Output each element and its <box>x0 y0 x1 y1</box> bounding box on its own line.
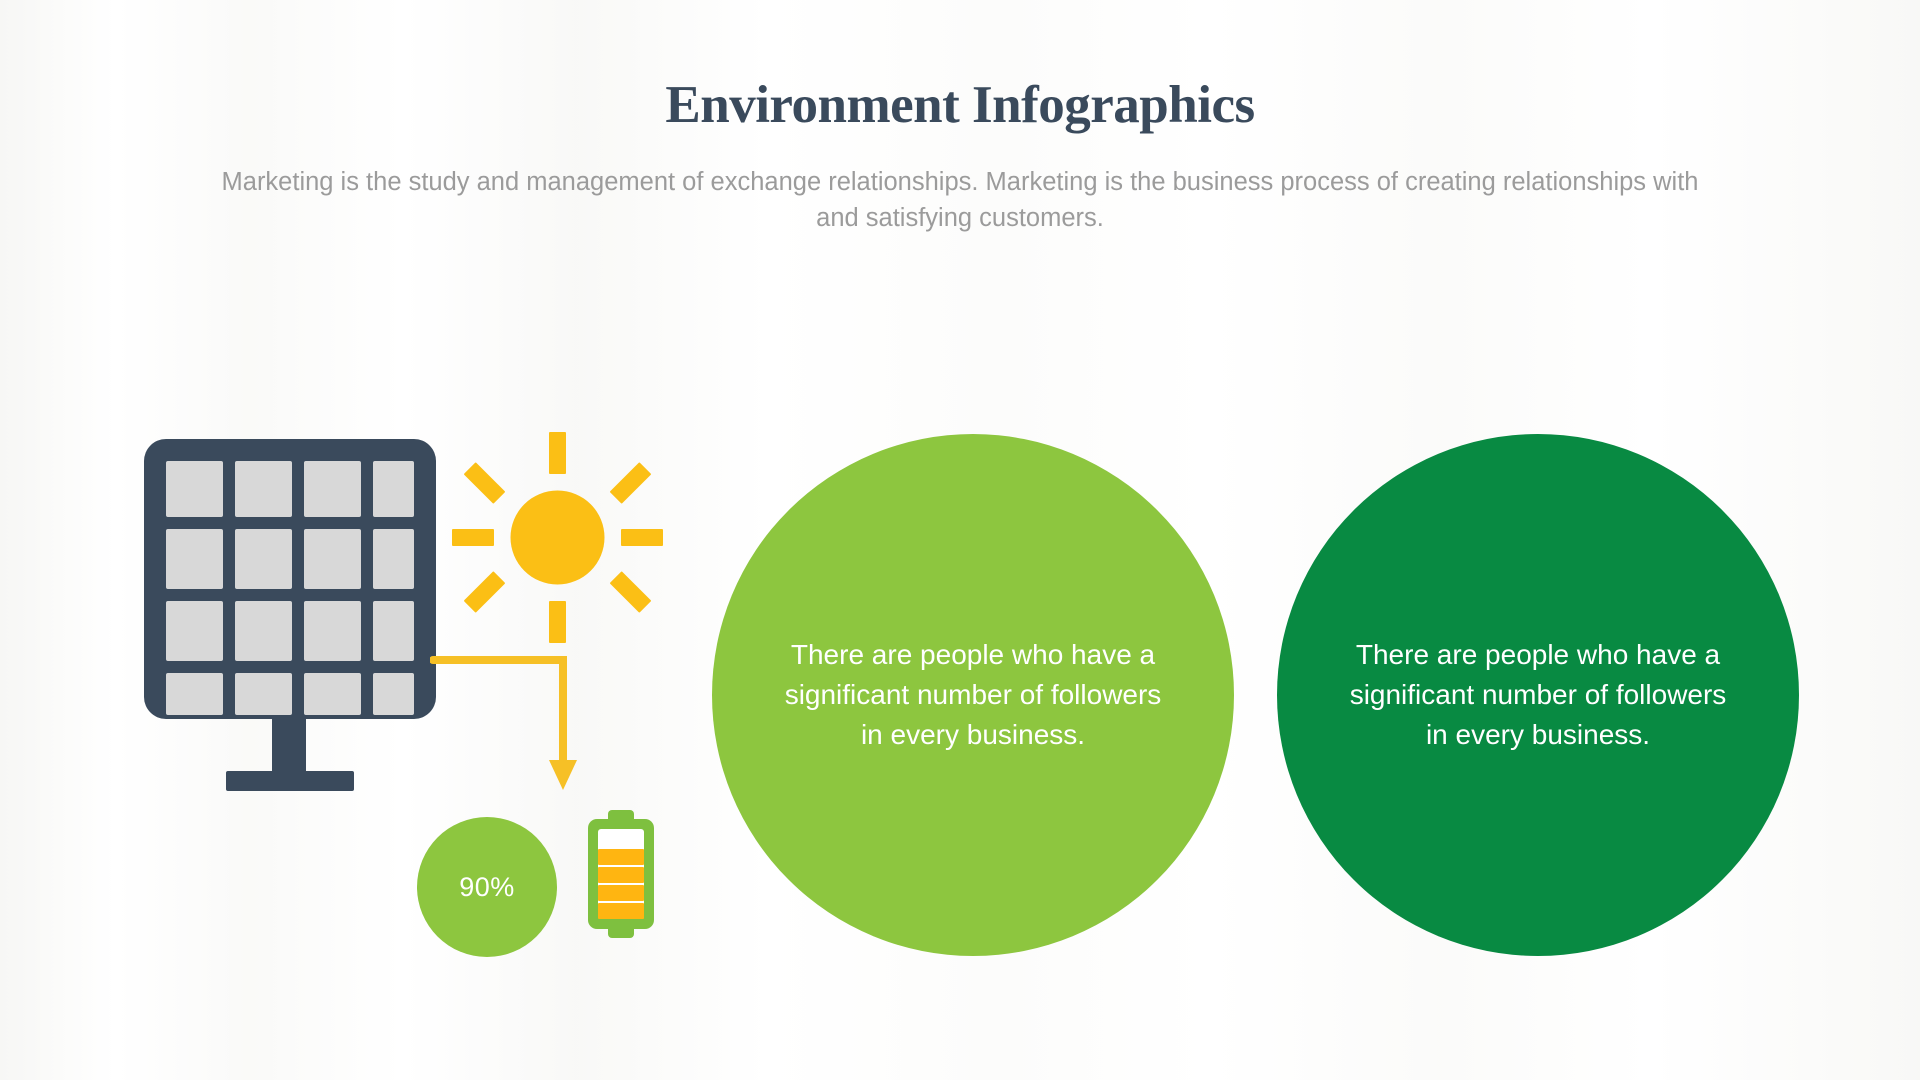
info-circle-one[interactable]: There are people who have a significant … <box>712 434 1234 956</box>
page-subtitle: Marketing is the study and management of… <box>200 164 1720 236</box>
info-circle-two[interactable]: There are people who have a significant … <box>1277 434 1799 956</box>
battery-icon <box>582 810 660 943</box>
page-title: Environment Infographics <box>0 78 1920 134</box>
infographic-slide: Environment Infographics Marketing is th… <box>0 0 1920 1080</box>
sun-icon <box>450 430 665 650</box>
energy-icon-cluster: 90% <box>120 420 680 980</box>
slide-header: Environment Infographics Marketing is th… <box>0 78 1920 236</box>
battery-percent-label: 90% <box>459 872 515 903</box>
info-circle-two-text: There are people who have a significant … <box>1304 635 1772 754</box>
battery-percent-bubble: 90% <box>417 817 557 957</box>
solar-panel-icon <box>140 435 440 800</box>
flow-arrow-icon <box>430 655 590 800</box>
info-circle-one-text: There are people who have a significant … <box>739 635 1207 754</box>
